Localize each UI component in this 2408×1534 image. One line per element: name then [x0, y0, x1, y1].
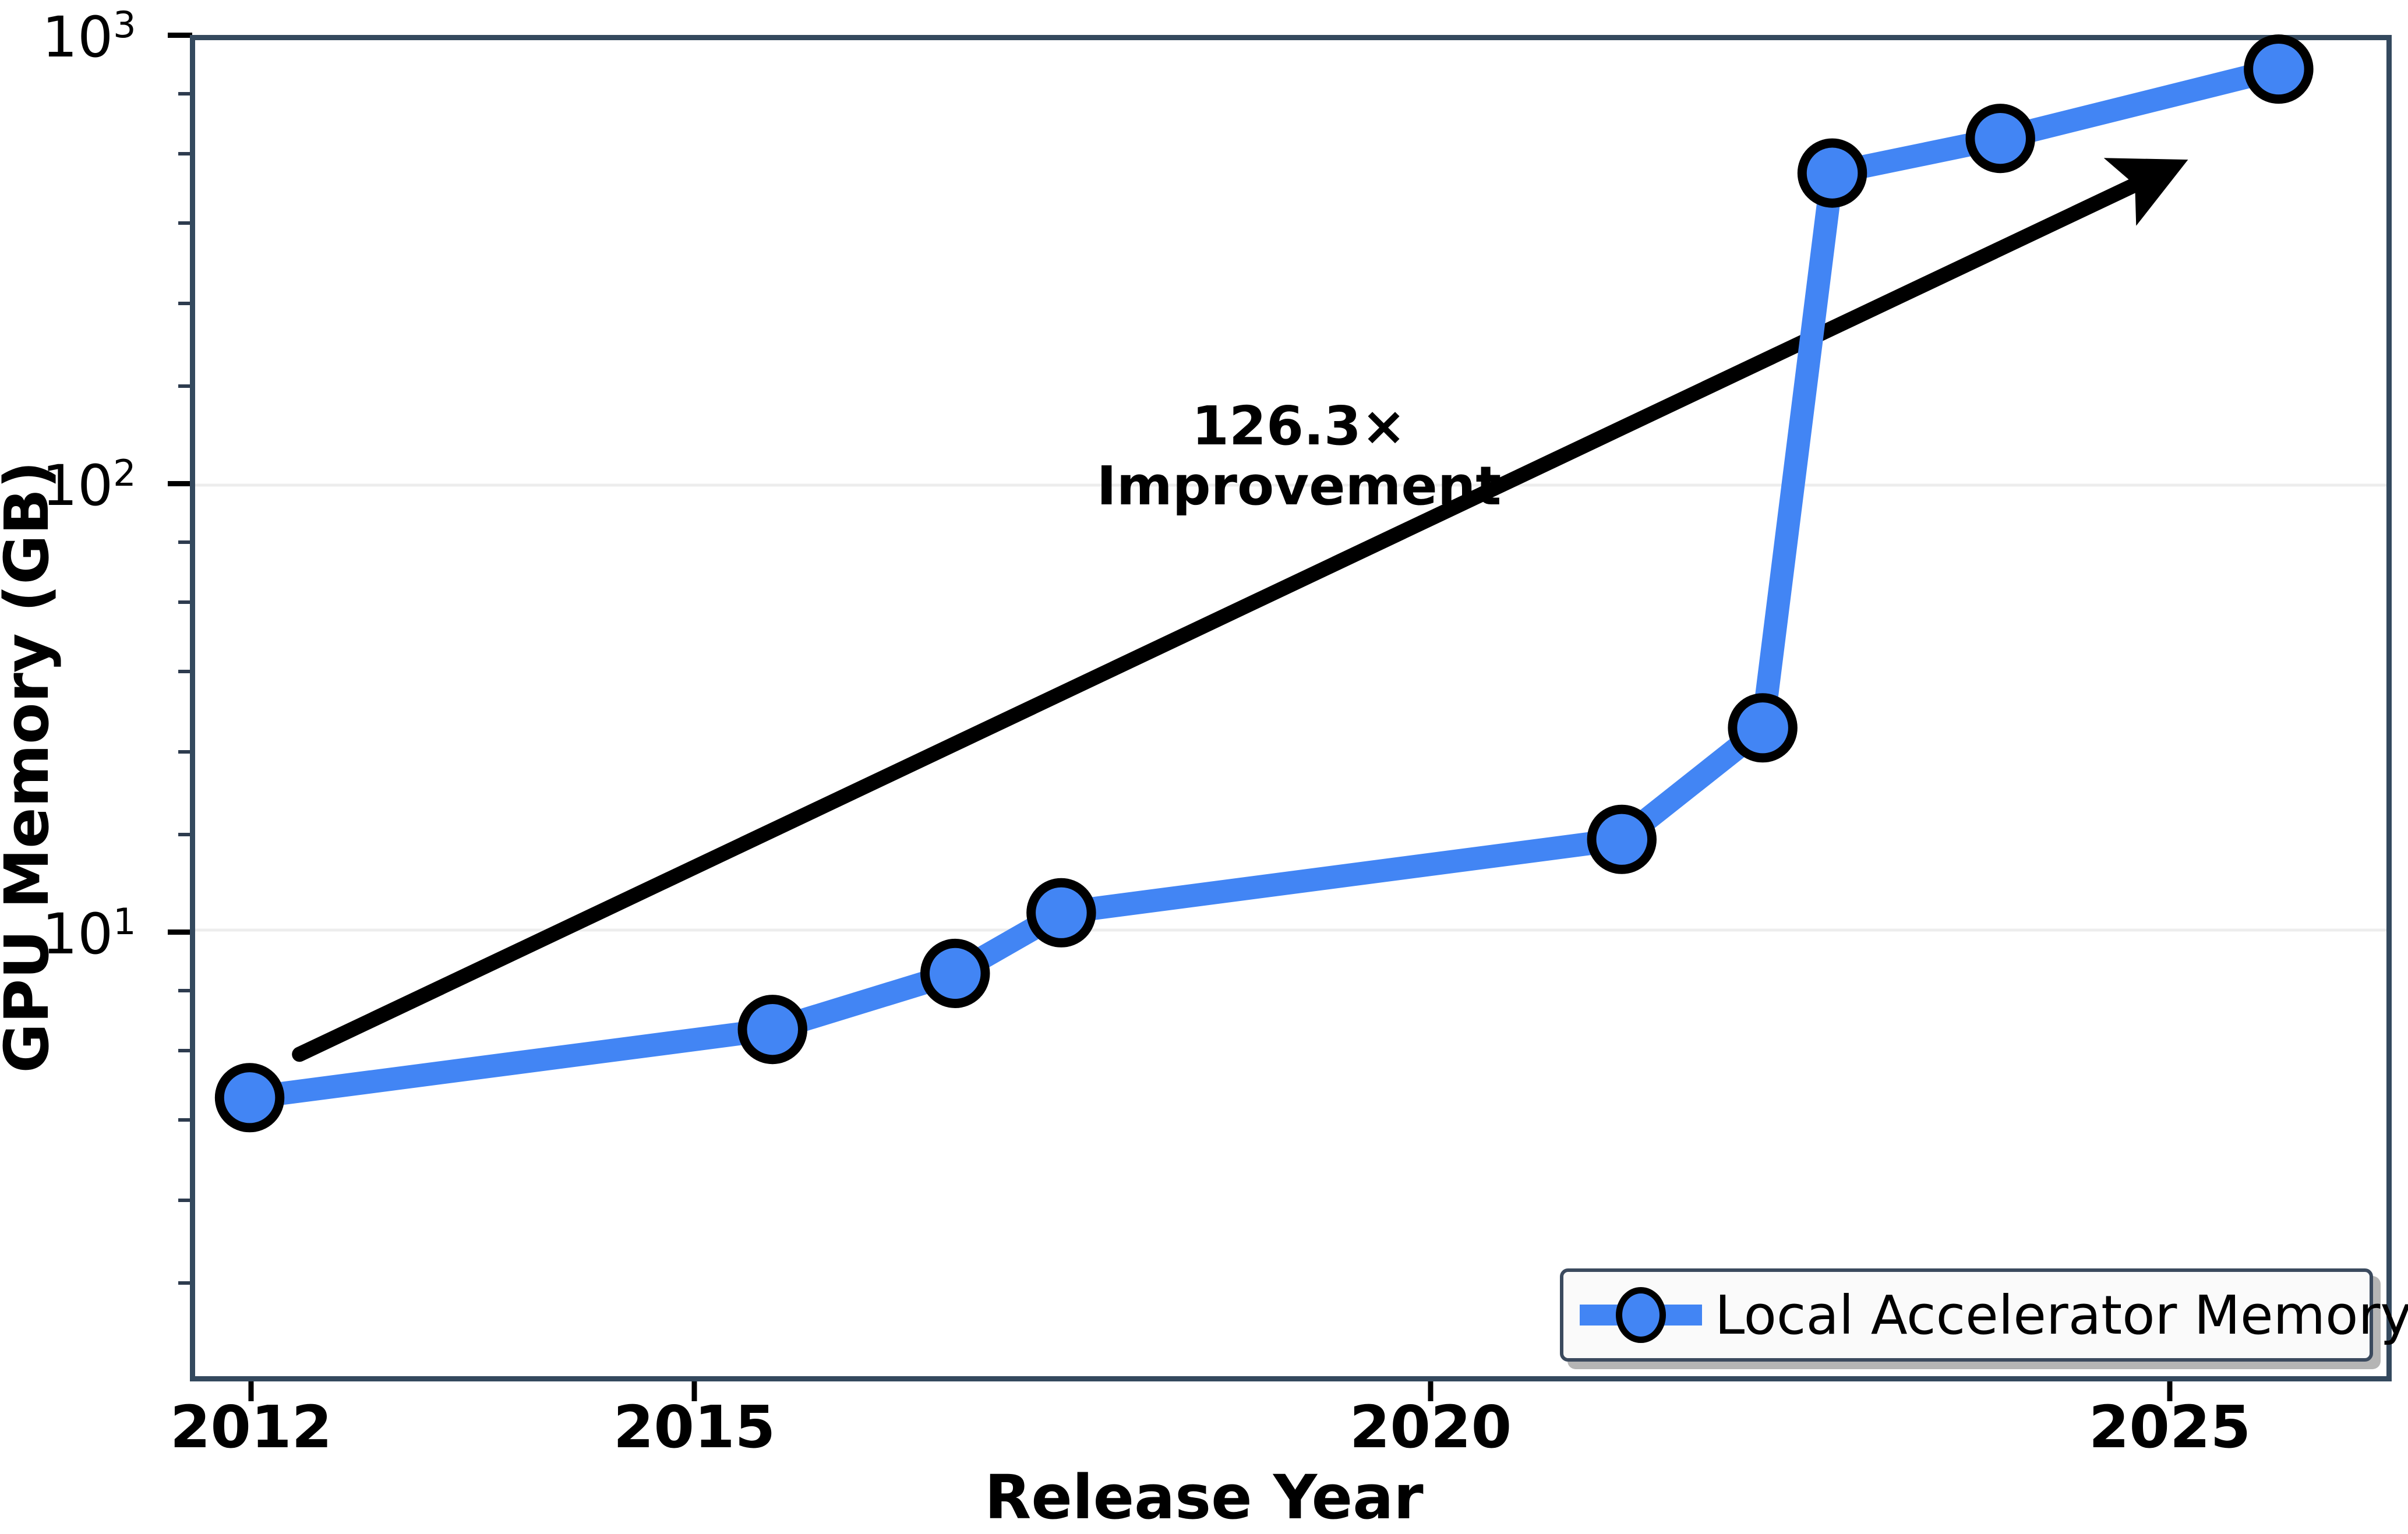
y-minor-tick [178, 1049, 191, 1052]
plot-area [190, 35, 2392, 1381]
y-minor-tick [178, 833, 191, 836]
y-minor-tick [178, 152, 191, 155]
legend[interactable]: Local Accelerator Memory [1560, 1268, 2373, 1362]
y-tick-mark-100 [168, 481, 192, 486]
improvement-arrow [299, 178, 2150, 1054]
data-point[interactable] [925, 943, 986, 1003]
data-point[interactable] [1031, 883, 1092, 943]
y-tick-mark-1000 [168, 33, 192, 38]
data-point-markers [220, 39, 2309, 1127]
x-axis-label: Release Year [0, 1462, 2408, 1533]
y-tick-exponent: 1 [113, 900, 136, 943]
data-point[interactable] [220, 1068, 280, 1127]
data-point[interactable] [1732, 698, 1793, 758]
y-minor-tick [178, 92, 191, 96]
legend-dot-icon [1616, 1287, 1666, 1343]
y-minor-tick [178, 1281, 191, 1285]
data-point[interactable] [743, 999, 803, 1059]
y-minor-tick [178, 384, 191, 388]
x-tick-label-2015: 2015 [613, 1393, 775, 1461]
series-line [250, 69, 2279, 1098]
data-point[interactable] [1592, 810, 1653, 869]
y-minor-tick [178, 600, 191, 604]
improvement-multiplier: 126.3× [1097, 396, 1502, 456]
legend-marker-icon [1580, 1287, 1702, 1343]
data-point[interactable] [1802, 143, 1863, 203]
x-tick-label-2012: 2012 [170, 1393, 332, 1461]
data-point[interactable] [2248, 39, 2309, 99]
x-tick-label-2025: 2025 [2089, 1393, 2251, 1461]
improvement-caption: Improvement [1097, 456, 1502, 516]
y-minor-tick [178, 221, 191, 225]
y-minor-tick [178, 1199, 191, 1202]
y-tick-mark-10 [168, 929, 192, 935]
x-tick-label-2020: 2020 [1350, 1393, 1512, 1461]
chart-canvas: 103 102 101 GPU Memory (GB) [0, 0, 2408, 1534]
y-tick-exponent: 3 [113, 3, 136, 46]
y-minor-tick [178, 1118, 191, 1122]
y-axis-label: GPU Memory (GB) [0, 0, 62, 1534]
y-minor-tick [178, 670, 191, 673]
data-point[interactable] [1970, 108, 2031, 168]
y-minor-tick [178, 302, 191, 305]
series-local-accelerator-memory [195, 40, 2386, 1376]
improvement-annotation: 126.3× Improvement [1097, 396, 1502, 516]
y-minor-tick [178, 989, 191, 992]
legend-entry-label: Local Accelerator Memory [1715, 1284, 2408, 1346]
y-minor-tick [178, 540, 191, 544]
y-tick-exponent: 2 [113, 452, 136, 494]
y-minor-tick [178, 750, 191, 754]
